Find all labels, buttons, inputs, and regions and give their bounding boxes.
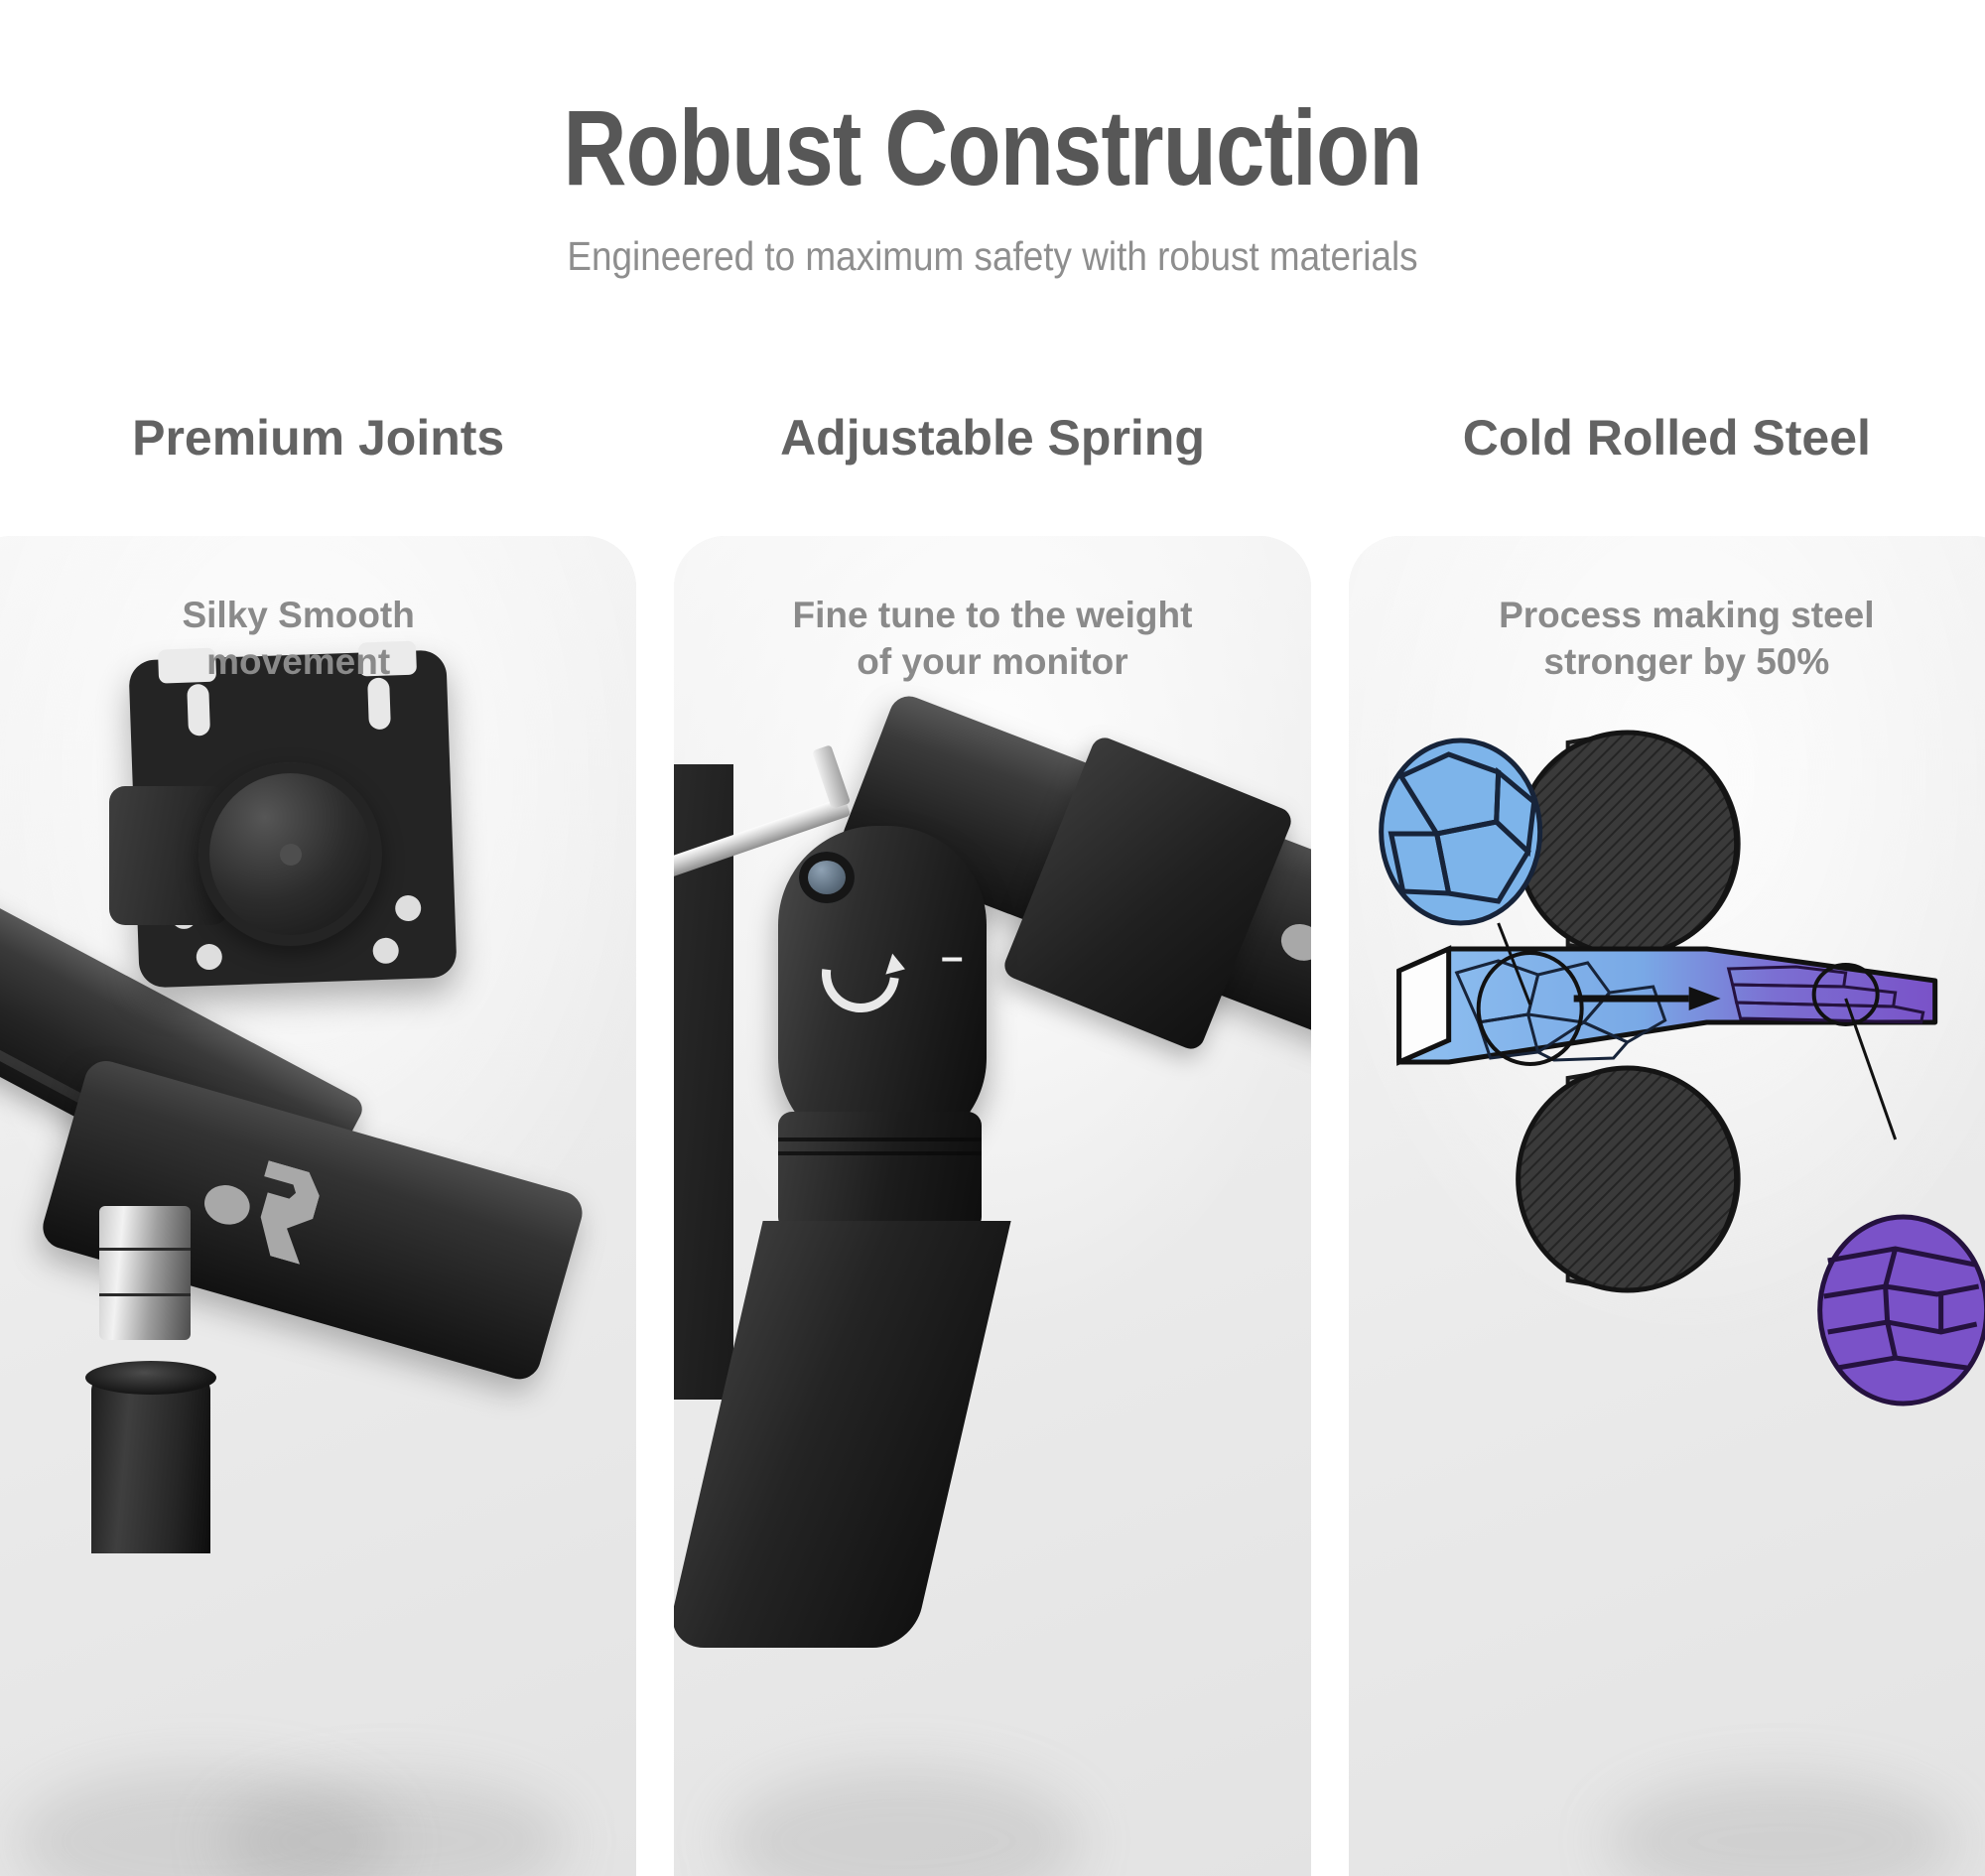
chrome-post: [99, 1206, 191, 1340]
tension-adjustment-screw[interactable]: [799, 852, 855, 903]
feature-card: Process making steel stronger by 50%: [1349, 536, 1985, 1876]
callout-coarse-grains: [1381, 740, 1539, 923]
description-line-1: Fine tune to the weight: [674, 592, 1310, 638]
minus-marking: –: [941, 937, 963, 977]
rotation-pivot-joint: [198, 762, 382, 946]
callout-flattened-grains: [1819, 1217, 1985, 1404]
description-line-2: stronger by 50%: [1349, 638, 1985, 685]
rotation-collar: [778, 1112, 982, 1231]
rotation-arrow-icon: [807, 919, 915, 1027]
card-description: Silky Smooth movement: [0, 536, 636, 686]
feature-columns: Premium Joints: [0, 407, 1985, 1787]
cold-rolling-diagram: [1349, 725, 1985, 1439]
base-cylinder: [91, 1375, 210, 1553]
page-header: Robust Construction Engineered to maximu…: [0, 0, 1985, 280]
product-photo-adjustable-spring: + –: [674, 536, 1310, 1876]
feature-column-cold-rolled-steel: Cold Rolled Steel: [1349, 407, 1985, 1787]
feature-column-adjustable-spring: Adjustable Spring + –: [674, 407, 1310, 1787]
product-photo-premium-joints: [0, 536, 636, 1876]
description-line-2: movement: [0, 638, 636, 685]
feature-column-premium-joints: Premium Joints: [0, 407, 636, 1787]
steel-strip: [1398, 949, 1934, 1064]
product-diagram-cold-rolled-steel: [1349, 536, 1985, 1876]
feature-card: + – Fine tune to the weight of your moni…: [674, 536, 1310, 1876]
brand-r-logo: [1270, 887, 1311, 1003]
lower-roller: [1518, 1068, 1738, 1290]
column-heading: Cold Rolled Steel: [1349, 407, 1985, 496]
brand-r-logo: [195, 1146, 325, 1265]
description-line-1: Silky Smooth: [0, 592, 636, 638]
page-subtitle: Engineered to maximum safety with robust…: [99, 233, 1886, 280]
upper-roller: [1518, 733, 1738, 955]
description-line-1: Process making steel: [1349, 592, 1985, 638]
column-heading: Premium Joints: [0, 407, 636, 496]
page-title: Robust Construction: [179, 91, 1806, 203]
card-description: Fine tune to the weight of your monitor: [674, 536, 1310, 686]
column-heading: Adjustable Spring: [674, 407, 1310, 496]
card-description: Process making steel stronger by 50%: [1349, 536, 1985, 686]
description-line-2: of your monitor: [674, 638, 1310, 685]
feature-card: Silky Smooth movement: [0, 536, 636, 1876]
